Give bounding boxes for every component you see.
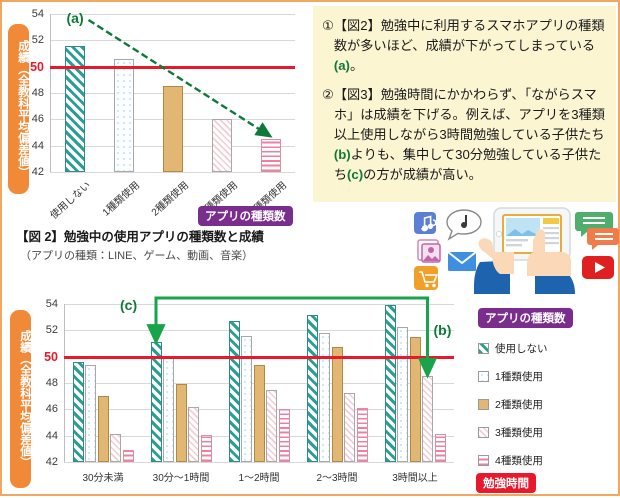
bar (110, 434, 121, 462)
bar (357, 408, 368, 462)
legend-label: 使用しない (495, 341, 548, 356)
legend-swatch-icon (478, 343, 489, 354)
bar (188, 407, 199, 462)
notes-panel: ① 【図2】勉強中に利用するスマホアプリの種類数が多いほど、成績が下がってしまっ… (313, 6, 616, 202)
y-axis-line (50, 14, 51, 172)
legend-item-3[interactable]: 3種類使用 (478, 425, 616, 440)
speech-bubble-note-icon (447, 210, 481, 239)
annotation-c: (c) (120, 297, 137, 313)
bar (279, 409, 290, 462)
note-mark-c: (c) (347, 167, 363, 182)
chart-fig2: 成績（全教科平均偏差値） 42444648505254使用しない1種類使用2種類… (2, 2, 312, 202)
note-item: ② 【図3】勉強時間にかかわらず、「ながらスマホ」は成績を下げる。例えば、アプリ… (322, 85, 605, 185)
legend-item-2[interactable]: 2種類使用 (478, 397, 616, 412)
y-axis-tick-label: 44 (32, 140, 44, 152)
legend-label: 4種類使用 (495, 453, 543, 468)
legend-item-1[interactable]: 1種類使用 (478, 369, 616, 384)
fig2-y-axis-label: 成績（全教科平均偏差値） (8, 24, 29, 194)
reference-line-50 (50, 66, 295, 69)
y-axis-tick-label: 52 (46, 324, 58, 336)
annotation-a: (a) (67, 10, 84, 26)
fig3-x-axis-badge: 勉強時間 (476, 473, 536, 493)
note-number: ② (322, 85, 334, 185)
bar (212, 119, 232, 172)
legend-swatch-icon (478, 427, 489, 438)
x-axis-tick-label: 使用しない (44, 177, 93, 223)
y-axis-tick-label: 44 (46, 430, 58, 442)
note-mark-a: (a) (334, 58, 350, 73)
legend-title: アプリの種類数 (478, 308, 573, 328)
y-axis-tick-label: 42 (32, 166, 44, 178)
bar (229, 321, 240, 462)
bar (435, 434, 446, 462)
legend-swatch-icon (478, 371, 489, 382)
bar (85, 365, 96, 462)
legend-label: 2種類使用 (495, 397, 543, 412)
bar (344, 393, 355, 462)
y-axis-tick-label: 42 (46, 456, 58, 468)
legend: アプリの種類数 使用しない 1種類使用 2種類使用 3種類使用 4種類使用 (478, 308, 616, 468)
fig2-caption-title: 【図 2】勉強中の使用アプリの種類数と成績 (16, 226, 264, 245)
note-item: ① 【図2】勉強中に利用するスマホアプリの種類数が多いほど、成績が下がってしまっ… (322, 16, 605, 76)
bar (241, 336, 252, 462)
x-axis-tick-label: 1〜2時間 (220, 469, 298, 484)
bar (151, 342, 162, 462)
bar (307, 315, 318, 462)
bar (397, 327, 408, 462)
y-axis-tick-label: 50 (44, 350, 58, 364)
bar (123, 450, 134, 463)
note-text-part: 【図2】勉強中に利用するスマホアプリの種類数が多いほど、成績が下がってしまってい… (334, 18, 605, 53)
y-axis-tick-label: 54 (32, 8, 44, 20)
bar (261, 139, 281, 172)
y-axis-line (64, 304, 65, 462)
note-number: ① (322, 16, 334, 76)
x-axis-tick-label: 1種類使用 (93, 177, 142, 223)
fig2-caption-subtitle: （アプリの種類：LINE、ゲーム、動画、音楽） (20, 247, 253, 263)
bar (422, 376, 433, 462)
x-axis-tick-label: 30分〜1時間 (142, 469, 220, 484)
music-note-icon (414, 212, 436, 234)
y-axis-tick-label: 48 (46, 377, 58, 389)
chart-fig3: 成績（全教科平均偏差値） 4244464850525430分未満30分〜1時間1… (2, 292, 472, 498)
x-axis-tick-label: 2種類使用 (142, 177, 191, 223)
x-axis-tick-label: 2〜3時間 (298, 469, 376, 484)
chat-bubble-icon (575, 212, 619, 250)
bar (176, 384, 187, 462)
mail-icon (448, 252, 476, 271)
bar (65, 46, 85, 172)
legend-label: 3種類使用 (495, 425, 543, 440)
bar (201, 435, 212, 462)
bar (385, 305, 396, 462)
legend-swatch-icon (478, 455, 489, 466)
bar (332, 347, 343, 462)
note-text-part: 【図3】勉強時間にかかわらず、「ながらスマホ」は成績を下げる。例えば、アプリを3… (334, 87, 605, 142)
bar (266, 390, 277, 462)
note-mark-b: (b) (334, 147, 351, 162)
bar (319, 333, 330, 462)
photo-icon (418, 240, 440, 262)
y-axis-tick-label: 48 (32, 87, 44, 99)
bar (163, 358, 174, 462)
y-axis-tick-label: 52 (32, 34, 44, 46)
fig2-plot-area: 42444648505254使用しない1種類使用2種類使用3種類使用4種類使用 (50, 14, 295, 172)
infographic-page: 成績（全教科平均偏差値） 42444648505254使用しない1種類使用2種類… (0, 0, 620, 496)
bar (114, 59, 134, 172)
annotation-b: (b) (434, 322, 452, 338)
bar (163, 86, 183, 172)
shopping-cart-icon (414, 266, 438, 290)
tablet-in-hands-illustration (406, 202, 620, 294)
x-axis-tick-label: 30分未満 (64, 469, 142, 484)
gridline (64, 330, 454, 331)
note-text-tail: 。 (350, 58, 363, 73)
note-text: 【図2】勉強中に利用するスマホアプリの種類数が多いほど、成績が下がってしまってい… (334, 16, 605, 76)
bar (73, 362, 84, 462)
y-axis-tick-label: 46 (46, 403, 58, 415)
fig3-plot-area: 4244464850525430分未満30分〜1時間1〜2時間2〜3時間3時間以… (64, 304, 454, 462)
legend-item-4[interactable]: 4種類使用 (478, 453, 616, 468)
video-play-icon (582, 256, 614, 279)
gridline (50, 172, 295, 173)
bar (254, 365, 265, 462)
gridline (64, 462, 454, 463)
note-text-tail: の方が成績が高い。 (363, 167, 482, 182)
legend-swatch-icon (478, 399, 489, 410)
y-axis-tick-label: 54 (46, 298, 58, 310)
gridline (50, 14, 295, 15)
legend-item-0[interactable]: 使用しない (478, 341, 616, 356)
fig2-x-axis-badge: アプリの種類数 (198, 206, 293, 226)
gridline (50, 40, 295, 41)
fig3-y-axis-label: 成績（全教科平均偏差値） (10, 310, 31, 488)
reference-line-50 (64, 356, 454, 359)
bar (98, 396, 109, 462)
note-text: 【図3】勉強時間にかかわらず、「ながらスマホ」は成績を下げる。例えば、アプリを3… (334, 85, 605, 185)
legend-label: 1種類使用 (495, 369, 543, 384)
x-axis-tick-label: 3時間以上 (376, 469, 454, 484)
y-axis-tick-label: 46 (32, 113, 44, 125)
y-axis-tick-label: 50 (30, 60, 44, 74)
